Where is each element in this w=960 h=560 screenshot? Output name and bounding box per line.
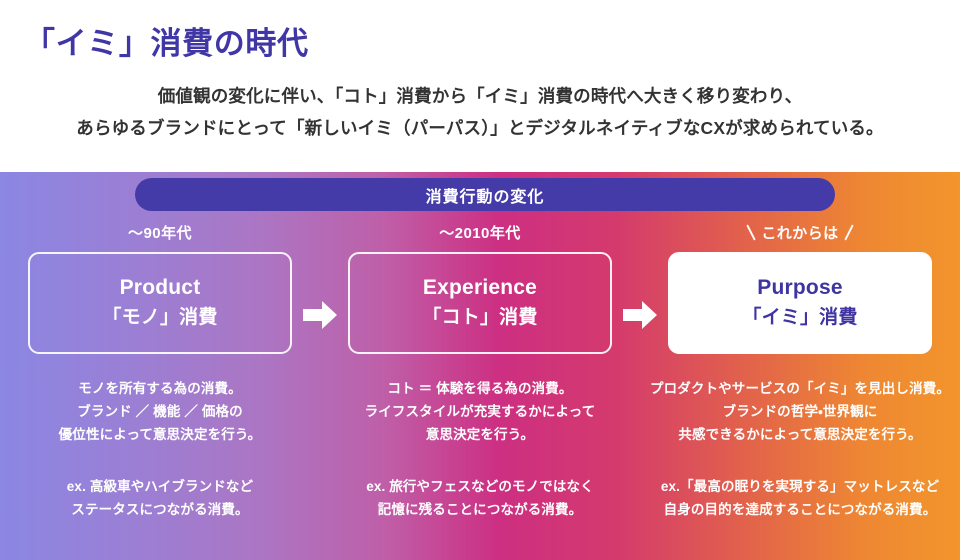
example-purpose: ex.「最高の眠りを実現する」マットレスなど 自身の目的を達成することにつながる… bbox=[646, 475, 954, 521]
description-experience-line-3: 意思決定を行う。 bbox=[326, 423, 634, 446]
description-product-line-3: 優位性によって意思決定を行う。 bbox=[6, 423, 314, 446]
example-product-line-2: ステータスにつながる消費。 bbox=[6, 498, 314, 521]
description-product-line-1: モノを所有する為の消費。 bbox=[6, 377, 314, 400]
card-experience[interactable]: Experience 「コト」消費 bbox=[348, 252, 612, 354]
slide-root: 「イミ」消費の時代 価値観の変化に伴い、「コト」消費から「イミ」消費の時代へ大き… bbox=[0, 0, 960, 560]
arrow-right-product-to-experience-icon bbox=[303, 300, 337, 330]
column-product: 〜90年代 Product 「モノ」消費 モノを所有する為の消費。 ブランド ／… bbox=[0, 172, 320, 560]
card-purpose-title-jp: 「イミ」消費 bbox=[742, 305, 857, 331]
column-experience: 〜2010年代 Experience 「コト」消費 コト ＝ 体験を得る為の消費… bbox=[320, 172, 640, 560]
era-label-experience: 〜2010年代 bbox=[320, 222, 640, 243]
example-purpose-line-1: ex.「最高の眠りを実現する」マットレスなど bbox=[646, 475, 954, 498]
slash-mark-right-icon bbox=[844, 224, 853, 240]
description-purpose-line-2: ブランドの哲学・世界観に bbox=[646, 400, 954, 423]
era-label-purpose: これからは bbox=[640, 222, 960, 243]
page-title: 「イミ」消費の時代 bbox=[24, 18, 309, 63]
era-label-product: 〜90年代 bbox=[0, 222, 320, 243]
description-experience: コト ＝ 体験を得る為の消費。 ライフスタイルが充実するかによって 意思決定を行… bbox=[326, 377, 634, 446]
column-purpose: これからは Purpose 「イミ」消費 プロダクトやサービスの「イミ」を見出し… bbox=[640, 172, 960, 560]
arrow-right-experience-to-purpose-icon bbox=[623, 300, 657, 330]
description-experience-line-2: ライフスタイルが充実するかによって bbox=[326, 400, 634, 423]
card-product-title-en: Product bbox=[120, 275, 201, 301]
description-product-line-2: ブランド ／ 機能 ／ 価格の bbox=[6, 400, 314, 423]
card-purpose[interactable]: Purpose 「イミ」消費 bbox=[668, 252, 932, 354]
description-purpose: プロダクトやサービスの「イミ」を見出し消費。 ブランドの哲学・世界観に 共感でき… bbox=[646, 377, 954, 446]
era-label-purpose-text: これからは bbox=[761, 222, 838, 243]
subtitle-block: 価値観の変化に伴い、「コト」消費から「イミ」消費の時代へ大きく移り変わり、 あら… bbox=[0, 80, 960, 144]
description-purpose-line-1: プロダクトやサービスの「イミ」を見出し消費。 bbox=[646, 377, 954, 400]
card-experience-title-en: Experience bbox=[423, 275, 537, 301]
era-label-product-text: 〜90年代 bbox=[128, 222, 192, 243]
example-experience-line-1: ex. 旅行やフェスなどのモノではなく bbox=[326, 475, 634, 498]
card-purpose-title-en: Purpose bbox=[757, 275, 843, 301]
header-section: 「イミ」消費の時代 価値観の変化に伴い、「コト」消費から「イミ」消費の時代へ大き… bbox=[0, 0, 960, 172]
example-product: ex. 高級車やハイブランドなど ステータスにつながる消費。 bbox=[6, 475, 314, 521]
example-purpose-line-2: 自身の目的を達成することにつながる消費。 bbox=[646, 498, 954, 521]
description-purpose-line-3: 共感できるかによって意思決定を行う。 bbox=[646, 423, 954, 446]
example-experience: ex. 旅行やフェスなどのモノではなく 記憶に残ることにつながる消費。 bbox=[326, 475, 634, 521]
description-experience-line-1: コト ＝ 体験を得る為の消費。 bbox=[326, 377, 634, 400]
era-label-experience-text: 〜2010年代 bbox=[439, 222, 521, 243]
subtitle-line-1: 価値観の変化に伴い、「コト」消費から「イミ」消費の時代へ大きく移り変わり、 bbox=[0, 80, 960, 112]
card-product-title-jp: 「モノ」消費 bbox=[102, 305, 217, 331]
card-product[interactable]: Product 「モノ」消費 bbox=[28, 252, 292, 354]
description-product: モノを所有する為の消費。 ブランド ／ 機能 ／ 価格の 優位性によって意思決定… bbox=[6, 377, 314, 446]
example-product-line-1: ex. 高級車やハイブランドなど bbox=[6, 475, 314, 498]
card-experience-title-jp: 「コト」消費 bbox=[422, 305, 537, 331]
example-experience-line-2: 記憶に残ることにつながる消費。 bbox=[326, 498, 634, 521]
subtitle-line-2: あらゆるブランドにとって「新しいイミ（パーパス）」とデジタルネイティブなCXが求… bbox=[0, 112, 960, 144]
columns-container: 〜90年代 Product 「モノ」消費 モノを所有する為の消費。 ブランド ／… bbox=[0, 172, 960, 560]
slash-mark-left-icon bbox=[747, 224, 756, 240]
